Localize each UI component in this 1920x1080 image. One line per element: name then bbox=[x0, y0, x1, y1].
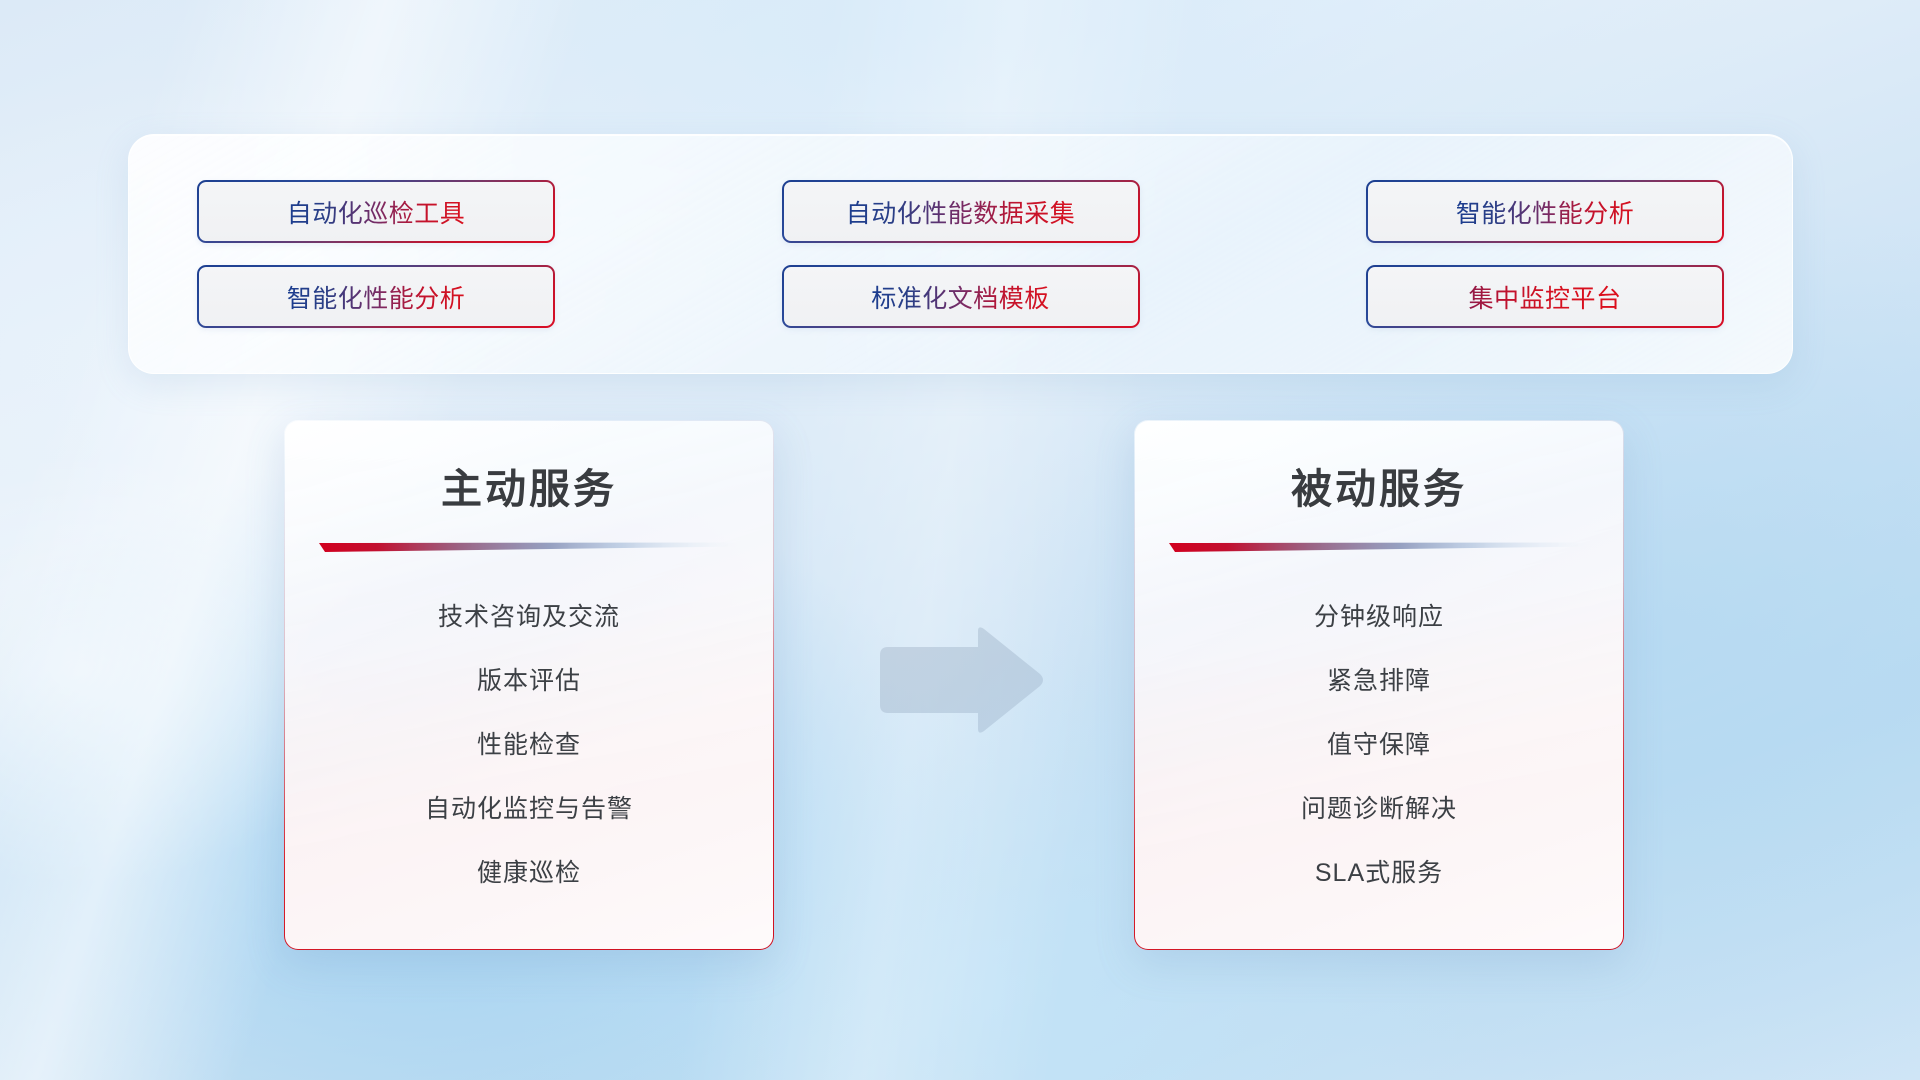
capability-pill-label: 智能化性能分析 bbox=[1456, 194, 1635, 230]
list-item: SLA式服务 bbox=[1163, 839, 1595, 903]
capability-panel: 自动化巡检工具 自动化性能数据采集 智能化性能分析 智能化性能分析 标准化文档模… bbox=[128, 134, 1793, 374]
capability-pill-label: 智能化性能分析 bbox=[287, 279, 466, 315]
capability-pill-intelligent-performance-analysis[interactable]: 智能化性能分析 bbox=[1366, 180, 1724, 243]
list-item: 技术咨询及交流 bbox=[313, 583, 745, 647]
capability-pill-centralized-monitoring-platform[interactable]: 集中监控平台 bbox=[1366, 265, 1724, 328]
list-item: 问题诊断解决 bbox=[1163, 775, 1595, 839]
card-item-list: 技术咨询及交流 版本评估 性能检查 自动化监控与告警 健康巡检 bbox=[313, 583, 745, 903]
card-title: 主动服务 bbox=[441, 455, 617, 515]
slide-canvas: 自动化巡检工具 自动化性能数据采集 智能化性能分析 智能化性能分析 标准化文档模… bbox=[0, 0, 1920, 1080]
list-item: 分钟级响应 bbox=[1163, 583, 1595, 647]
capability-pill-label: 自动化性能数据采集 bbox=[846, 194, 1076, 230]
capability-pill-intelligent-performance-analysis-2[interactable]: 智能化性能分析 bbox=[197, 265, 555, 328]
list-item: 紧急排障 bbox=[1163, 647, 1595, 711]
service-card-proactive[interactable]: 主动服务 技术咨询及交流 版本评估 bbox=[284, 420, 774, 950]
card-title: 被动服务 bbox=[1291, 455, 1467, 515]
card-divider-accent bbox=[1169, 541, 1589, 555]
list-item: 值守保障 bbox=[1163, 711, 1595, 775]
service-card-reactive[interactable]: 被动服务 分钟级响应 紧急排障 bbox=[1134, 420, 1624, 950]
capability-pill-label: 集中监控平台 bbox=[1468, 279, 1621, 315]
capability-pill-automated-performance-data-collection[interactable]: 自动化性能数据采集 bbox=[782, 180, 1140, 243]
card-divider-accent bbox=[319, 541, 739, 555]
card-item-list: 分钟级响应 紧急排障 值守保障 问题诊断解决 SLA式服务 bbox=[1163, 583, 1595, 903]
capability-pill-label: 自动化巡检工具 bbox=[287, 194, 466, 230]
list-item: 性能检查 bbox=[313, 711, 745, 775]
capability-row-2: 智能化性能分析 标准化文档模板 集中监控平台 bbox=[197, 265, 1724, 328]
capability-pill-label: 标准化文档模板 bbox=[871, 279, 1050, 315]
capability-pill-automation-inspection-tool[interactable]: 自动化巡检工具 bbox=[197, 180, 555, 243]
list-item: 健康巡检 bbox=[313, 839, 745, 903]
capability-row-1: 自动化巡检工具 自动化性能数据采集 智能化性能分析 bbox=[197, 180, 1724, 243]
capability-pill-standardized-document-template[interactable]: 标准化文档模板 bbox=[782, 265, 1140, 328]
list-item: 版本评估 bbox=[313, 647, 745, 711]
list-item: 自动化监控与告警 bbox=[313, 775, 745, 839]
right-arrow-icon bbox=[874, 625, 1046, 735]
